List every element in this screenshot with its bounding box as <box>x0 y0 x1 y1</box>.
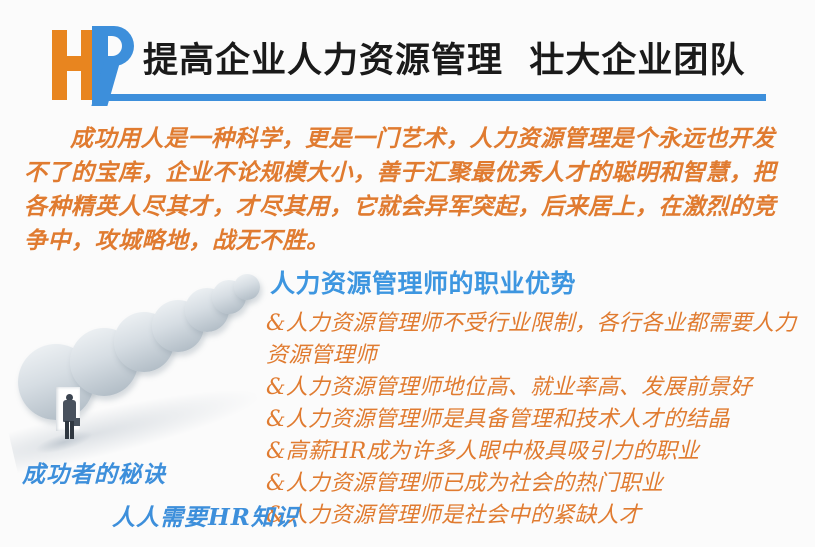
businessman-figure-icon <box>60 394 78 440</box>
poster-header: 提高企业人力资源管理 壮大企业团队 <box>0 0 815 112</box>
success-letter-s3-icon <box>234 274 260 300</box>
caption-success-secret: 成功者的秘诀 <box>22 455 166 489</box>
bullet-marker-icon: & <box>266 375 286 400</box>
bullet-marker-icon: & <box>266 407 286 432</box>
list-item-label: 人力资源管理师不受行业限制，各行各业都需要人力资源管理师 <box>266 311 796 368</box>
briefcase-icon <box>74 418 80 426</box>
intro-paragraph: 成功用人是一种科学，更是一门艺术，人力资源管理是个永远也开发不了的宝库，企业不论… <box>24 122 796 258</box>
list-item-label: 人力资源管理师是社会中的紧缺人才 <box>286 503 641 528</box>
list-item: &人力资源管理师是具备管理和技术人才的结晶 <box>266 404 811 436</box>
list-item: &人力资源管理师是社会中的紧缺人才 <box>266 500 811 532</box>
list-item: &人力资源管理师已成为社会的热门职业 <box>266 468 811 500</box>
advantage-list: &人力资源管理师不受行业限制，各行各业都需要人力资源管理师&人力资源管理师地位高… <box>266 308 811 532</box>
caption-hr-knowledge: 人人需要HR知识 <box>112 498 299 532</box>
bullet-marker-icon: & <box>266 311 286 336</box>
section-heading: 人力资源管理师的职业优势 <box>270 264 576 300</box>
list-item-label: 高薪HR成为许多人眼中极具吸引力的职业 <box>286 439 700 464</box>
businessman-left-leg <box>65 421 69 439</box>
page-title: 提高企业人力资源管理 壮大企业团队 <box>143 36 793 86</box>
title-underline-rule <box>96 94 766 101</box>
hr-logo <box>52 26 138 100</box>
list-item-label: 人力资源管理师地位高、就业率高、发展前景好 <box>286 375 752 400</box>
success-3d-graphic <box>0 262 268 462</box>
bullet-marker-icon: & <box>266 439 286 464</box>
list-item-label: 人力资源管理师已成为社会的热门职业 <box>286 471 663 496</box>
poster-canvas: 提高企业人力资源管理 壮大企业团队 成功用人是一种科学，更是一门艺术，人力资源管… <box>0 0 815 547</box>
logo-h-crossbar-icon <box>52 56 96 71</box>
list-item: &人力资源管理师不受行业限制，各行各业都需要人力资源管理师 <box>266 308 811 372</box>
list-item: &高薪HR成为许多人眼中极具吸引力的职业 <box>266 436 811 468</box>
list-item-label: 人力资源管理师是具备管理和技术人才的结晶 <box>286 407 730 432</box>
list-item: &人力资源管理师地位高、就业率高、发展前景好 <box>266 372 811 404</box>
bullet-marker-icon: & <box>266 471 286 496</box>
